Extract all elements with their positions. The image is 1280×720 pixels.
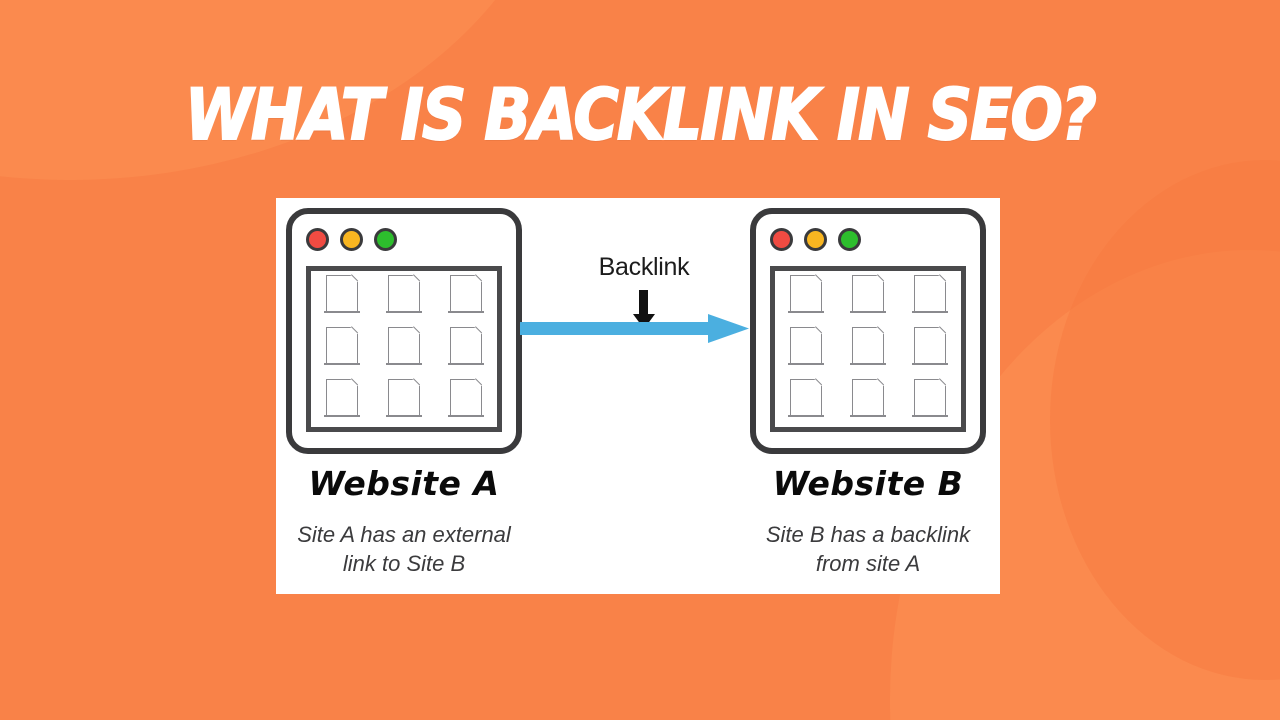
page-tile-icon xyxy=(850,327,886,371)
page-tile-icon xyxy=(324,379,360,423)
page-tile-icon xyxy=(386,327,422,371)
page-tile-icon xyxy=(448,275,484,319)
page-tile-icon xyxy=(448,379,484,423)
traffic-light-dots-a xyxy=(306,228,397,251)
browser-viewport-a xyxy=(306,266,502,432)
close-dot-icon xyxy=(770,228,793,251)
page-tile-icon xyxy=(850,379,886,423)
close-dot-icon xyxy=(306,228,329,251)
site-name-website-a: Website A xyxy=(286,464,522,503)
browser-viewport-b xyxy=(770,266,966,432)
caption-line: Site B has a backlink xyxy=(737,520,999,549)
page-tile-icon xyxy=(850,275,886,319)
page-tile-icon xyxy=(788,275,824,319)
background-blob-accent xyxy=(1050,160,1280,680)
caption-line: link to Site B xyxy=(273,549,535,578)
backlink-arrow-icon xyxy=(520,312,750,344)
page-tile-icon xyxy=(912,327,948,371)
caption-line: Site A has an external xyxy=(273,520,535,549)
page-tile-icon xyxy=(788,379,824,423)
page-title: What is Backlink in SEO? xyxy=(77,78,1203,152)
browser-window-website-b xyxy=(750,208,986,454)
site-caption-website-b: Site B has a backlink from site A xyxy=(737,520,999,578)
backlink-label: Backlink xyxy=(544,253,744,282)
page-tile-icon xyxy=(912,379,948,423)
page-tile-icon xyxy=(448,327,484,371)
maximize-dot-icon xyxy=(374,228,397,251)
page-tile-icon xyxy=(324,327,360,371)
traffic-light-dots-b xyxy=(770,228,861,251)
maximize-dot-icon xyxy=(838,228,861,251)
page-tile-icon xyxy=(386,275,422,319)
browser-window-website-a xyxy=(286,208,522,454)
page-tile-icon xyxy=(912,275,948,319)
site-caption-website-a: Site A has an external link to Site B xyxy=(273,520,535,578)
slide-canvas: What is Backlink in SEO? Backlink xyxy=(0,0,1280,720)
diagram-card: Backlink xyxy=(276,198,1000,594)
minimize-dot-icon xyxy=(340,228,363,251)
page-tile-icon xyxy=(386,379,422,423)
site-name-website-b: Website B xyxy=(750,464,986,503)
page-tile-icon xyxy=(788,327,824,371)
caption-line: from site A xyxy=(737,549,999,578)
page-tile-icon xyxy=(324,275,360,319)
minimize-dot-icon xyxy=(804,228,827,251)
